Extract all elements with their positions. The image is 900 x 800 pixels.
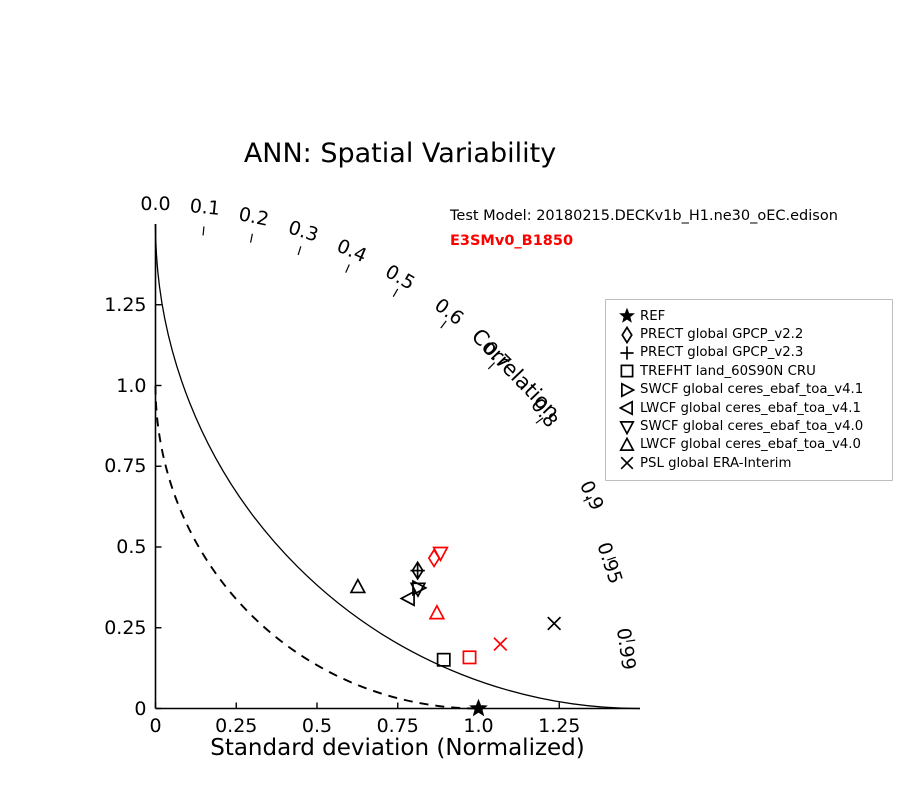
test-model-annotation: Test Model: 20180215.DECKv1b_H1.ne30_oEC… — [450, 208, 838, 224]
legend-marker-triangle-down-icon — [614, 418, 640, 436]
legend-glyph — [621, 366, 632, 377]
y-tick-label: 0 — [134, 698, 146, 720]
series-reference-model — [429, 548, 507, 664]
legend-marker-plus-icon — [614, 344, 640, 362]
legend-item[interactable]: SWCF global ceres_ebaf_toa_v4.1 — [614, 381, 886, 399]
legend-glyph — [621, 438, 634, 450]
correlation-tick — [203, 226, 204, 235]
correlation-tick-label: 0.1 — [189, 196, 221, 221]
legend-glyph — [620, 309, 633, 322]
y-tick-label: 1.0 — [116, 375, 146, 397]
x-tick-label: 0.75 — [377, 715, 419, 737]
y-tick-label: 0.5 — [116, 536, 146, 558]
correlation-tick — [346, 264, 350, 272]
data-point-triangle-up — [351, 580, 365, 593]
x-tick-label: 1.25 — [538, 715, 580, 737]
x-axis-title: Standard deviation (Normalized) — [0, 735, 795, 761]
legend-marker-star-icon — [614, 307, 640, 325]
y-tick-label: 0.25 — [104, 617, 146, 639]
data-point-plus — [410, 563, 424, 577]
legend-item-label: PSL global ERA-Interim — [640, 456, 791, 471]
legend-item[interactable]: PRECT global GPCP_v2.3 — [614, 344, 886, 362]
legend-glyph — [620, 402, 632, 415]
y-tick-label: 0.75 — [104, 455, 146, 477]
legend-item-label: SWCF global ceres_ebaf_toa_v4.0 — [640, 419, 863, 434]
data-point-cross — [494, 638, 507, 651]
reference-model-annotation: E3SMv0_B1850 — [450, 233, 573, 249]
y-tick-label: 1.25 — [104, 294, 146, 316]
data-point-diamond — [429, 550, 439, 567]
legend-marker-triangle-right-icon — [614, 381, 640, 399]
legend-item[interactable]: PRECT global GPCP_v2.2 — [614, 325, 886, 343]
legend-item[interactable]: PSL global ERA-Interim — [614, 454, 886, 472]
legend-item-label: PRECT global GPCP_v2.3 — [640, 345, 803, 360]
legend-glyph — [622, 327, 632, 342]
legend-item-label: LWCF global ceres_ebaf_toa_v4.0 — [640, 437, 861, 452]
x-tick-label: 0 — [149, 715, 161, 737]
legend-item-label: REF — [640, 309, 665, 324]
correlation-tick-label: 0.0 — [140, 193, 170, 215]
legend-marker-diamond-icon — [614, 326, 640, 344]
legend-glyph — [621, 458, 633, 470]
legend-item[interactable]: LWCF global ceres_ebaf_toa_v4.0 — [614, 436, 886, 454]
data-point-square — [463, 651, 475, 663]
legend-marker-triangle-left-icon — [614, 399, 640, 417]
series-test-model — [351, 562, 560, 666]
reference-point-star — [471, 700, 487, 715]
legend-glyph — [621, 421, 634, 433]
taylor-diagram-figure: ANN: Spatial Variability Test Model: 201… — [0, 0, 900, 800]
data-point-triangle-up — [430, 606, 444, 619]
legend-item-label: SWCF global ceres_ebaf_toa_v4.1 — [640, 382, 863, 397]
legend-item[interactable]: TREFHT land_60S90N CRU — [614, 362, 886, 380]
chart-title: ANN: Spatial Variability — [0, 138, 800, 169]
legend-glyph — [620, 346, 633, 359]
correlation-tick — [298, 246, 301, 255]
data-point-square — [438, 654, 450, 666]
legend-item[interactable]: LWCF global ceres_ebaf_toa_v4.1 — [614, 399, 886, 417]
legend-glyph — [622, 383, 634, 396]
x-tick-label: 1.0 — [463, 715, 493, 737]
x-tick-label: 0.5 — [302, 715, 332, 737]
legend-marker-triangle-up-icon — [614, 436, 640, 454]
legend: REFPRECT global GPCP_v2.2PRECT global GP… — [605, 299, 893, 481]
legend-item-label: PRECT global GPCP_v2.2 — [640, 327, 803, 342]
legend-item[interactable]: REF — [614, 307, 886, 325]
legend-marker-square-icon — [614, 362, 640, 380]
x-tick-label: 0.25 — [215, 715, 257, 737]
legend-marker-cross-icon — [614, 454, 640, 472]
legend-item-label: TREFHT land_60S90N CRU — [640, 364, 816, 379]
correlation-tick — [393, 289, 398, 297]
data-point-cross — [548, 617, 561, 630]
legend-item[interactable]: SWCF global ceres_ebaf_toa_v4.0 — [614, 417, 886, 435]
outer-correlation-arc — [156, 224, 641, 709]
legend-item-label: LWCF global ceres_ebaf_toa_v4.1 — [640, 401, 861, 416]
correlation-tick — [251, 234, 253, 243]
